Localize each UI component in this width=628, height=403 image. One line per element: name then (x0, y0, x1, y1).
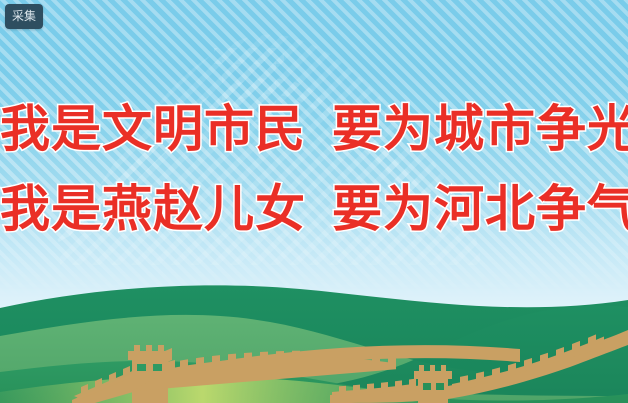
slogan-line-1-left: 我是文明市民 (0, 100, 306, 158)
banner-image: 我是文明市民要为城市争光 我是燕赵儿女要为河北争气 采集 (0, 0, 628, 403)
slogan-line-1: 我是文明市民要为城市争光 (0, 104, 628, 154)
slogan-line-2-right: 要为河北争气 (332, 180, 628, 238)
slogan-line-2-left: 我是燕赵儿女 (0, 180, 306, 238)
slogan-line-1-right: 要为城市争光 (332, 100, 628, 158)
slogan-line-2: 我是燕赵儿女要为河北争气 (0, 184, 628, 234)
capture-button[interactable]: 采集 (5, 4, 43, 29)
